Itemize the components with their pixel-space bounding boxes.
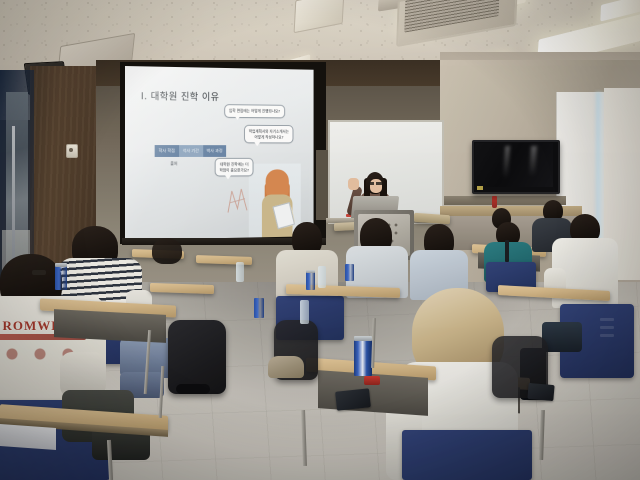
- cap: [268, 356, 304, 378]
- door-handle-bar[interactable]: [12, 126, 15, 266]
- slide-title: Ⅰ. 대학원 진학 이유: [141, 88, 219, 103]
- student-s7-lanyard: [505, 240, 509, 262]
- phone-2[interactable]: [527, 383, 554, 401]
- can-5: [254, 298, 264, 318]
- can-3: [354, 340, 372, 376]
- glasses-icon: [369, 182, 382, 185]
- can-2: [345, 264, 354, 281]
- slide-caption: 출처: [170, 161, 177, 167]
- presenter-hand: [348, 178, 359, 190]
- can-3-top: [354, 336, 372, 341]
- can-4: [55, 266, 67, 290]
- can-1: [306, 272, 315, 290]
- slide-table-cell-1: 학사 학점: [155, 145, 179, 157]
- chair-s8-slot-3: [600, 334, 614, 337]
- can-4-top: [55, 263, 67, 267]
- chair-s8-slot-2: [600, 326, 614, 329]
- tv-logo: [477, 186, 483, 190]
- bottle-3: [236, 262, 244, 282]
- red-item: [364, 376, 380, 385]
- chair-s6: [402, 430, 532, 480]
- bottle-2: [300, 300, 309, 324]
- tv-screen: [475, 143, 553, 187]
- chair-s8-slot-1: [600, 318, 614, 321]
- classroom-photo: Ⅰ. 대학원 진학 이유 학사 학점 석사 기간 박사 과정 출처 입학 면접에…: [0, 0, 640, 480]
- backpack-1: [168, 320, 226, 394]
- phone-1[interactable]: [335, 388, 371, 410]
- backpack-1-strap: [176, 384, 210, 394]
- slide-table: 학사 학점 석사 기간 박사 과정: [155, 145, 227, 157]
- slide-table-cell-2: 석사 기간: [179, 145, 203, 157]
- can-1-top: [306, 270, 315, 273]
- slide-speech-bubble-1: 입학 면접에는 어떻게 진행되나요?: [224, 104, 284, 118]
- wall-outlet-socket: [69, 148, 73, 152]
- red-bottle: [492, 196, 497, 208]
- slide-table-cell-3: 박사 과정: [203, 145, 227, 157]
- student-s1-glasses-arm: [32, 270, 46, 275]
- slide-speech-bubble-3: 대학원 진학에는 더 학점이 중요한가요?: [215, 158, 254, 177]
- projection-screen: Ⅰ. 대학원 진학 이유 학사 학점 석사 기간 박사 과정 출처 입학 면접에…: [125, 66, 314, 240]
- bottle-1: [318, 266, 326, 288]
- slide-speech-bubble-2: 학업계획서와 자기소개서는 어떻게 작성하나요?: [244, 125, 293, 144]
- student-s8-shorts: [542, 322, 582, 352]
- student-s10-head-fg: [152, 238, 182, 264]
- slide-illustration-scribble: [226, 185, 252, 215]
- papers-on-desk: [0, 424, 56, 450]
